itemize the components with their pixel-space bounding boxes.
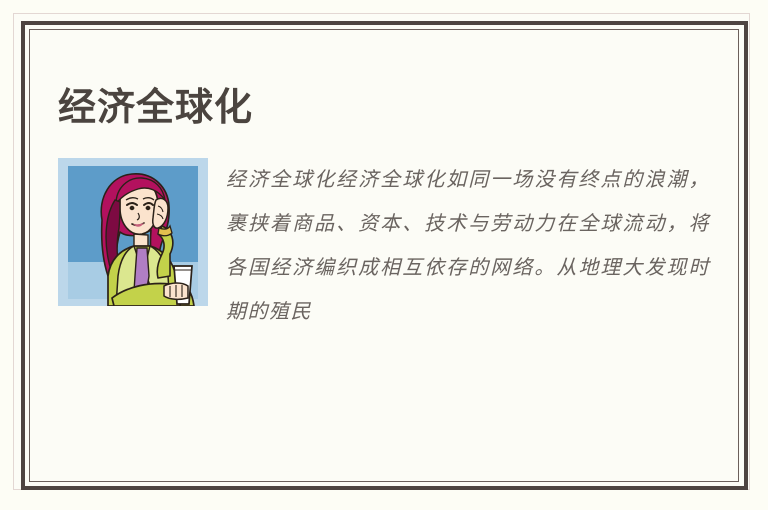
- document-page: 经济全球化: [0, 0, 768, 510]
- article-body: 经济全球化经济全球化如同一场没有终点的浪潮，裹挟着商品、资本、技术与劳动力在全球…: [58, 158, 710, 334]
- article-content: 经济全球化: [30, 30, 738, 482]
- woman-figure-vector: [58, 158, 208, 306]
- page-title: 经济全球化: [58, 88, 253, 130]
- woman-with-cup-illustration: [58, 158, 208, 306]
